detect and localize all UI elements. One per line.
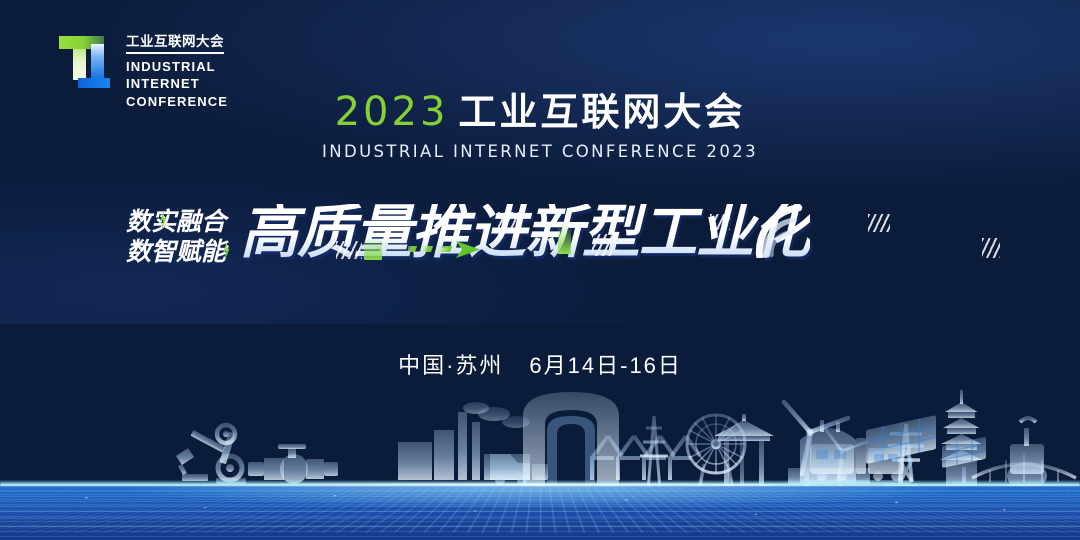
headline-block: 2023工业互联网大会 INDUSTRIAL INTERNET CONFEREN… bbox=[0, 92, 1080, 161]
logo-cn-name: 工业互联网大会 bbox=[126, 34, 224, 54]
logo-en-line-1: INDUSTRIAL bbox=[126, 58, 228, 76]
slogan-block: 数实融合 数智赋能 高质量推进新型工业化 bbox=[126, 178, 964, 288]
dateline: 中国·苏州6月14日-16日 bbox=[0, 348, 1080, 380]
hatch-accent bbox=[868, 214, 890, 232]
ground-streaks bbox=[0, 486, 1080, 540]
conference-banner: 工业互联网大会 INDUSTRIAL INTERNET CONFERENCE 2… bbox=[0, 0, 1080, 540]
slogan-left-line-2: 数智赋能 bbox=[126, 239, 226, 266]
headline-en-subtitle: INDUSTRIAL INTERNET CONFERENCE 2023 bbox=[0, 142, 1080, 161]
headline-cn-title: 工业互联网大会 bbox=[458, 92, 745, 134]
slogan-main-wrap: 高质量推进新型工业化 bbox=[240, 204, 810, 262]
slogan-main-text: 高质量推进新型工业化 bbox=[240, 204, 810, 262]
dateline-location: 中国·苏州 bbox=[398, 353, 503, 378]
ground-sparkle bbox=[0, 486, 1080, 540]
slogan-left-line-1-text: 数实融合 bbox=[126, 208, 226, 236]
dateline-dates: 6月14日-16日 bbox=[529, 353, 682, 378]
slogan-left-line-1: 数实融合 bbox=[126, 209, 226, 236]
logo-mark-icon bbox=[56, 30, 114, 90]
logo-en-line-2: INTERNET bbox=[126, 75, 228, 93]
horizon-glow-line bbox=[0, 480, 1080, 490]
skyline-silhouette bbox=[0, 368, 1080, 488]
perspective-grid-ground bbox=[0, 486, 1080, 540]
slogan-left-lines: 数实融合 数智赋能 bbox=[126, 201, 226, 266]
headline-year: 2023 bbox=[335, 89, 449, 135]
skyline-silhouette-right bbox=[0, 368, 1080, 488]
slogan-left-line-2-text: 数智赋能 bbox=[126, 238, 226, 266]
ground-mesh bbox=[0, 486, 1080, 532]
headline-main: 2023工业互联网大会 bbox=[0, 92, 1080, 132]
hatch-accent bbox=[982, 238, 1000, 258]
